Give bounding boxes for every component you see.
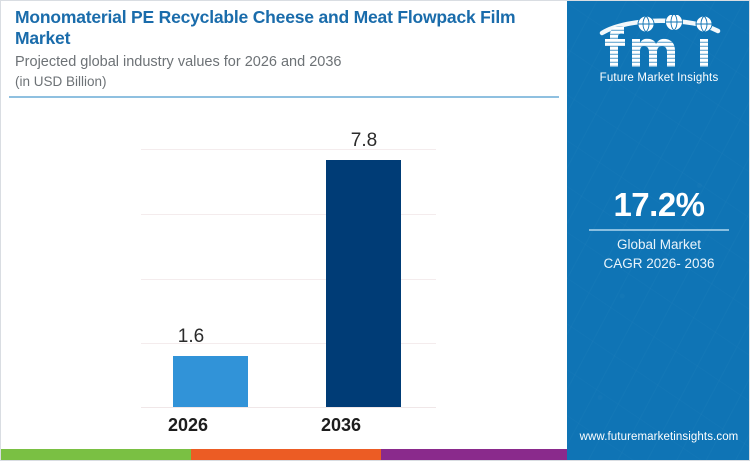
- header-divider: [9, 96, 559, 98]
- main-content-area: Monomaterial PE Recyclable Cheese and Me…: [1, 1, 567, 449]
- website-url[interactable]: www.futuremarketinsights.com: [567, 431, 750, 443]
- strip-segment-purple: [381, 449, 567, 461]
- bar-value-2036: 7.8: [304, 130, 424, 152]
- bar-2026[interactable]: [173, 356, 248, 407]
- x-axis-label-2036: 2036: [281, 415, 401, 436]
- bottom-color-strip: [1, 449, 567, 461]
- bar-2036[interactable]: [326, 160, 401, 407]
- fmi-logo: Future Market Insights: [567, 9, 750, 89]
- plot-area: 1.6 7.8: [141, 149, 436, 408]
- bar-chart: 1.6 7.8 2026 2036: [1, 101, 567, 449]
- header: Monomaterial PE Recyclable Cheese and Me…: [15, 7, 555, 91]
- fmi-logo-tagline: Future Market Insights: [600, 72, 719, 84]
- x-axis-label-2026: 2026: [128, 415, 248, 436]
- x-axis-baseline: [141, 407, 436, 408]
- cagr-label: Global Market CAGR 2026- 2036: [567, 235, 750, 273]
- bar-value-2026: 1.6: [131, 326, 251, 348]
- strip-segment-green: [1, 449, 191, 461]
- fmi-logo-icon: [588, 15, 730, 71]
- brand-panel: Future Market Insights 17.2% Global Mark…: [567, 1, 750, 461]
- infographic-canvas: Monomaterial PE Recyclable Cheese and Me…: [0, 0, 750, 461]
- page-subtitle: Projected global industry values for 202…: [15, 53, 555, 72]
- cagr-divider: [589, 229, 729, 231]
- strip-segment-orange: [191, 449, 381, 461]
- page-title: Monomaterial PE Recyclable Cheese and Me…: [15, 7, 555, 49]
- chart-units-label: (in USD Billion): [15, 73, 555, 91]
- cagr-value: 17.2%: [567, 186, 750, 224]
- cagr-label-line2: CAGR 2026- 2036: [567, 254, 750, 273]
- x-axis-labels: 2026 2036: [141, 413, 436, 443]
- cagr-label-line1: Global Market: [567, 235, 750, 254]
